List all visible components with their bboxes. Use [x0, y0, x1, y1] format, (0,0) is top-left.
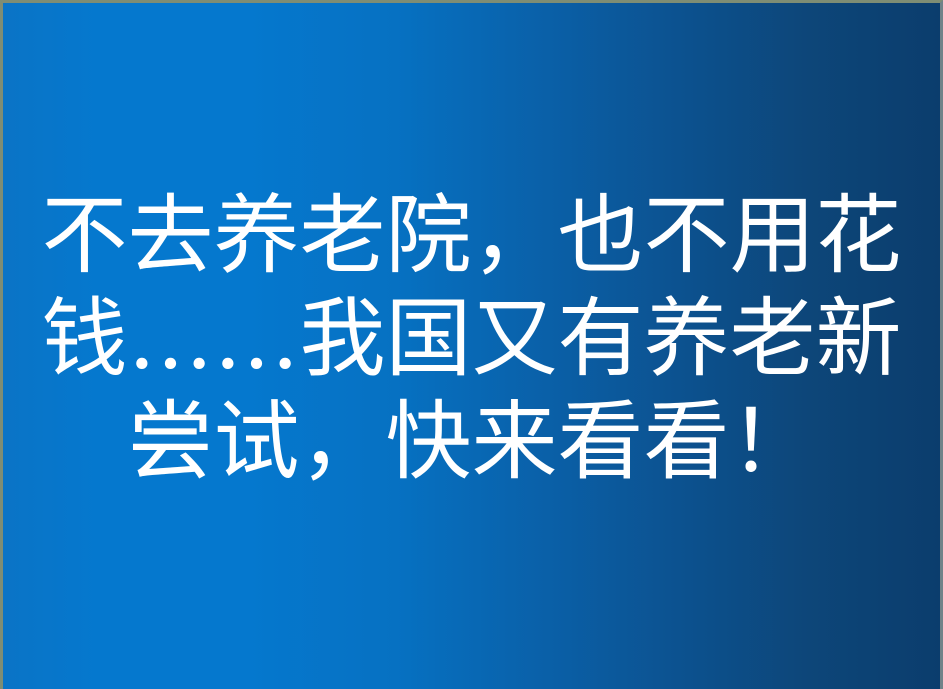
headline-line-3: 尝试，快来看看！: [9, 391, 934, 494]
poster-canvas: 不去养老院，也不用花 钱……我国又有养老新 尝试，快来看看！: [0, 0, 943, 689]
poster-content-stage: 不去养老院，也不用花 钱……我国又有养老新 尝试，快来看看！: [3, 3, 940, 689]
headline-text-block: 不去养老院，也不用花 钱……我国又有养老新 尝试，快来看看！: [3, 185, 940, 508]
headline-line-1: 不去养老院，也不用花: [9, 185, 934, 288]
headline-line-2: 钱……我国又有养老新: [9, 288, 934, 391]
